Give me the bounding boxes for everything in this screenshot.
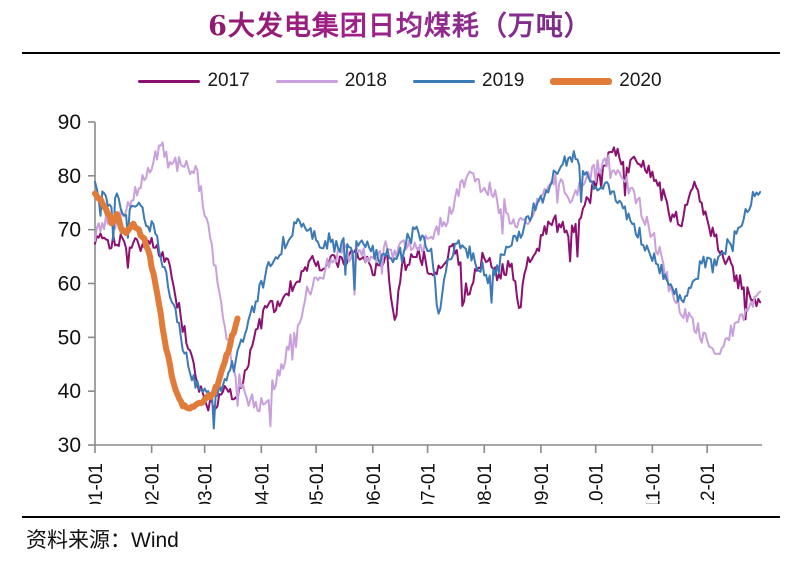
line-chart-svg: 30405060708090 01-0102-0103-0104-0105-01… [0,104,800,504]
legend-label-2019: 2019 [482,70,524,92]
x-tick-label: 09-01 [532,463,553,504]
x-tick-label: 01-01 [86,463,107,504]
legend-swatch-2019-icon [413,80,475,83]
title-container: 6大发电集团日均煤耗（万吨） [0,4,800,43]
legend-item-2018[interactable]: 2018 [276,70,387,92]
chart-page: 6大发电集团日均煤耗（万吨） 2017 2018 2019 2020 30405… [0,0,800,568]
legend-item-2019[interactable]: 2019 [413,70,524,92]
y-axis-ticks: 30405060708090 [58,111,95,457]
y-tick-label: 50 [58,326,81,349]
y-tick-label: 60 [58,273,81,296]
legend-swatch-2020-icon [550,78,612,85]
source-value: Wind [131,529,179,552]
x-tick-label: 10-01 [587,463,608,504]
source-label: 资料来源： [26,528,131,552]
legend-label-2020: 2020 [619,70,661,92]
footer-divider [22,516,780,518]
y-tick-label: 70 [58,219,81,242]
legend-swatch-2018-icon [276,80,338,83]
chart-legend: 2017 2018 2019 2020 [0,70,800,92]
y-tick-label: 90 [58,111,81,134]
x-tick-label: 06-01 [364,463,385,504]
legend-item-2017[interactable]: 2017 [138,70,249,92]
legend-item-2020[interactable]: 2020 [550,70,661,92]
x-tick-label: 02-01 [143,463,164,504]
source-note: 资料来源：Wind [26,524,179,554]
y-tick-label: 40 [58,380,81,403]
legend-label-2017: 2017 [207,70,249,92]
x-tick-label: 03-01 [196,463,217,504]
series-line-2017 [95,147,760,410]
series-lines [95,142,760,428]
x-tick-label: 04-01 [252,463,273,504]
x-tick-label: 07-01 [419,463,440,504]
legend-label-2018: 2018 [345,70,387,92]
y-tick-label: 30 [58,434,81,457]
legend-swatch-2017-icon [138,80,200,83]
x-tick-label: 11-01 [643,463,664,504]
plot-area: 30405060708090 01-0102-0103-0104-0105-01… [0,104,800,504]
title-divider [22,52,780,54]
x-tick-label: 12-01 [698,463,719,504]
x-tick-label: 08-01 [475,463,496,504]
y-tick-label: 80 [58,165,81,188]
page-title: 6大发电集团日均煤耗（万吨） [208,4,592,43]
x-axis-ticks: 01-0102-0103-0104-0105-0106-0107-0108-01… [86,445,719,504]
x-tick-label: 05-01 [307,463,328,504]
